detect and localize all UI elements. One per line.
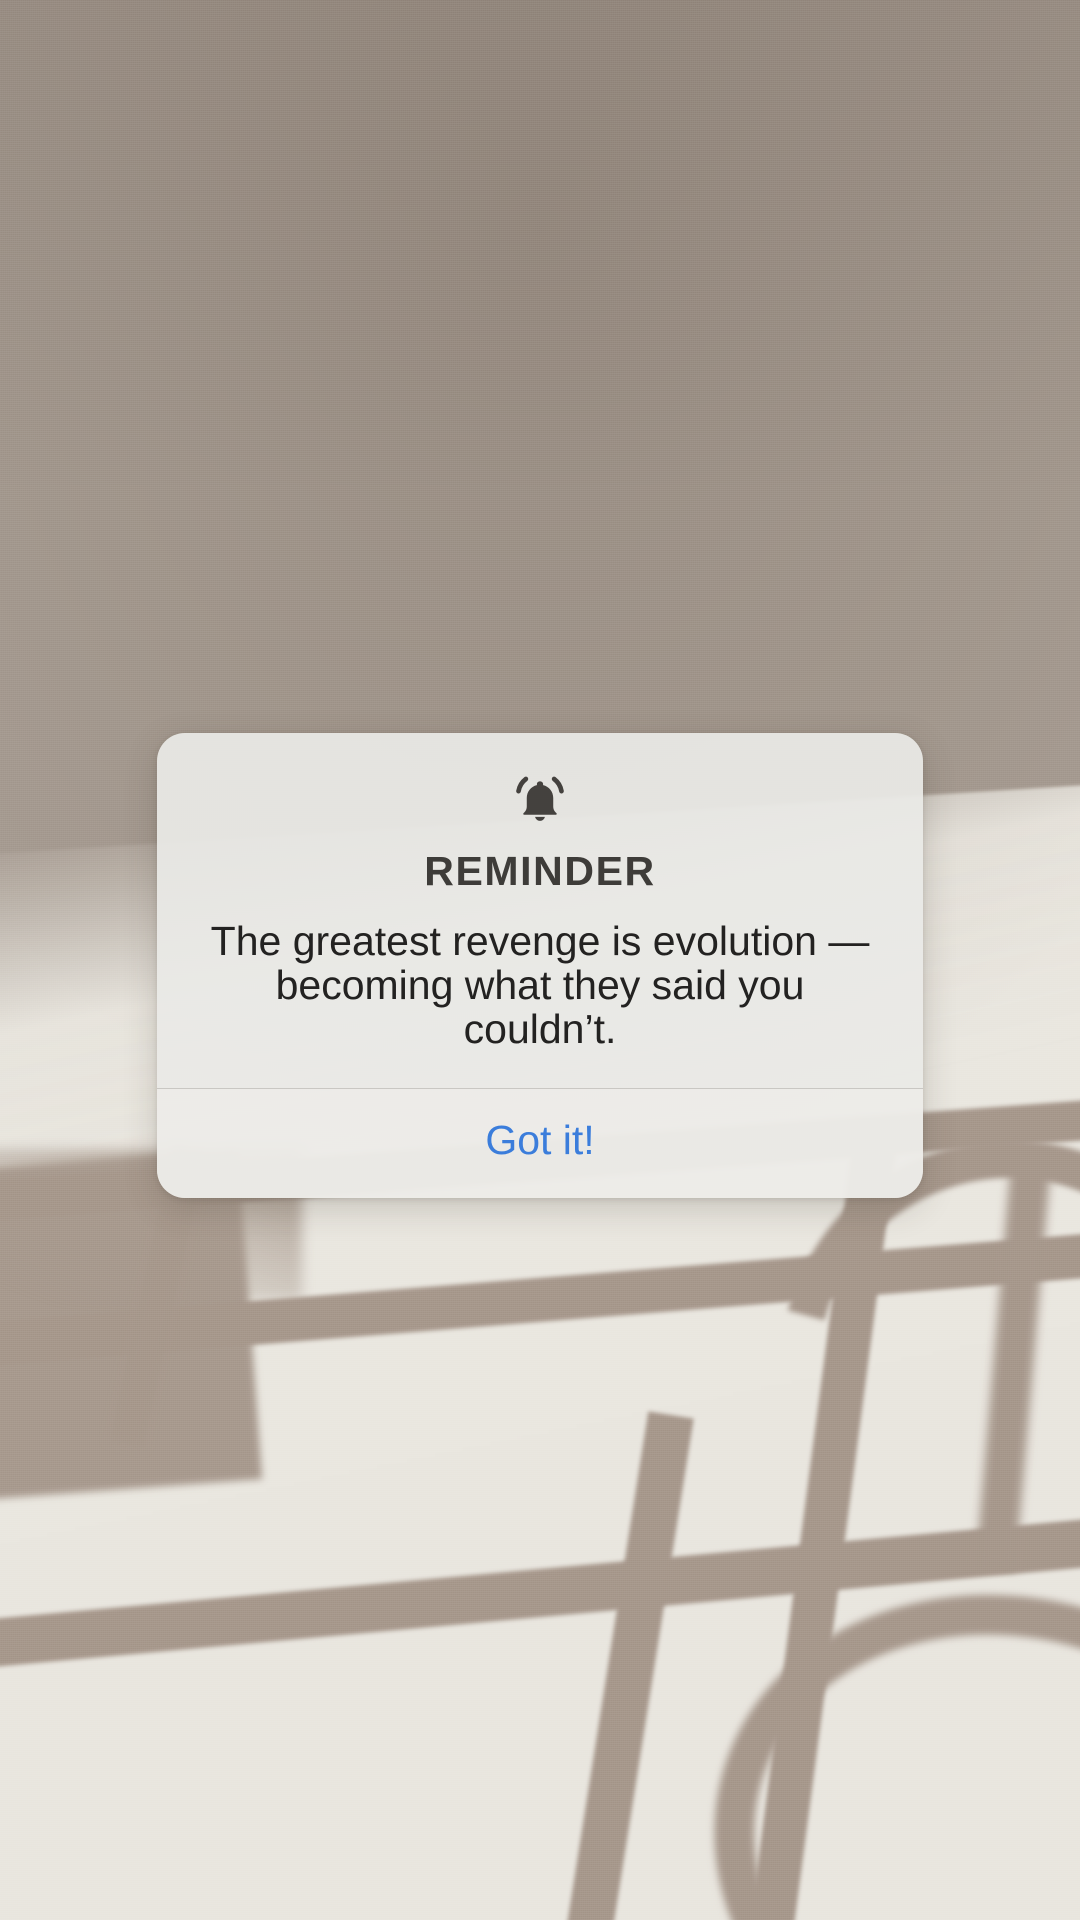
bell-icon xyxy=(187,769,893,831)
alert-message-line: The greatest revenge is evolution — xyxy=(195,920,885,964)
alert-title: REMINDER xyxy=(187,849,893,894)
alert-content: REMINDER The greatest revenge is evoluti… xyxy=(157,733,923,1088)
alert-message: The greatest revenge is evolution — beco… xyxy=(187,920,893,1058)
got-it-button[interactable]: Got it! xyxy=(157,1089,923,1198)
reminder-alert-dialog: REMINDER The greatest revenge is evoluti… xyxy=(157,733,923,1198)
alert-message-line: couldn’t. xyxy=(195,1008,885,1052)
alert-message-line: becoming what they said you xyxy=(195,964,885,1008)
